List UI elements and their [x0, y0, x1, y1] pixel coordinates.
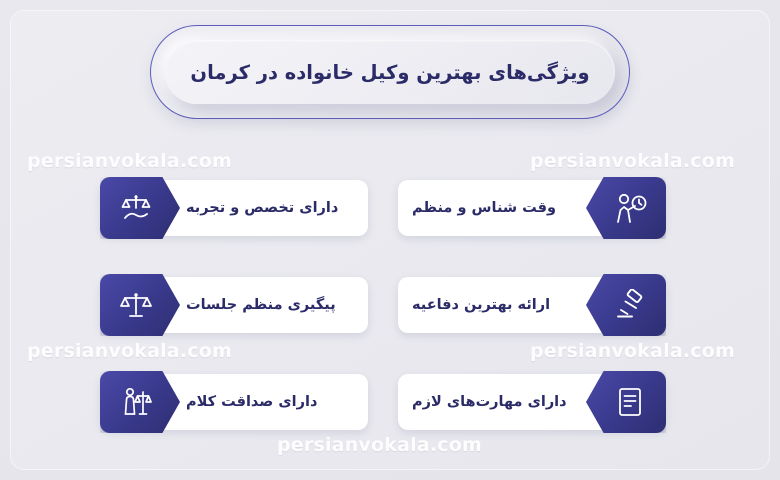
watermark: persianvokala.com — [277, 434, 482, 456]
watermark: persianvokala.com — [27, 150, 232, 172]
punctual-person-icon — [586, 177, 666, 239]
balance-scales-icon — [100, 274, 180, 336]
feature-card-label: دارای تخصص و تجربه — [186, 180, 354, 236]
watermark: persianvokala.com — [27, 340, 232, 362]
feature-card-label: دارای صداقت کلام — [186, 374, 354, 430]
feature-card[interactable]: پیگیری منظم جلسات — [100, 277, 368, 333]
title-frame-inner: ویژگی‌های بهترین وکیل خانواده در کرمان — [165, 40, 615, 104]
feature-card-label: دارای مهارت‌های لازم — [412, 374, 580, 430]
feature-card-label: ارائه بهترین دفاعیه — [412, 277, 580, 333]
watermark: persianvokala.com — [530, 340, 735, 362]
scales-hand-icon — [100, 177, 180, 239]
feature-card[interactable]: دارای صداقت کلام — [100, 374, 368, 430]
feature-card[interactable]: ارائه بهترین دفاعیه — [398, 277, 666, 333]
document-certificate-icon — [586, 371, 666, 433]
gavel-icon — [586, 274, 666, 336]
feature-card[interactable]: دارای تخصص و تجربه — [100, 180, 368, 236]
page-title: ویژگی‌های بهترین وکیل خانواده در کرمان — [190, 61, 589, 84]
feature-card-label: وقت شناس و منظم — [412, 180, 580, 236]
title-frame-outer: ویژگی‌های بهترین وکیل خانواده در کرمان — [150, 25, 630, 119]
feature-card[interactable]: دارای مهارت‌های لازم — [398, 374, 666, 430]
lawyer-scales-icon — [100, 371, 180, 433]
feature-card[interactable]: وقت شناس و منظم — [398, 180, 666, 236]
watermark: persianvokala.com — [530, 150, 735, 172]
infographic-canvas: ویژگی‌های بهترین وکیل خانواده در کرمان p… — [0, 0, 780, 480]
feature-card-label: پیگیری منظم جلسات — [186, 277, 354, 333]
